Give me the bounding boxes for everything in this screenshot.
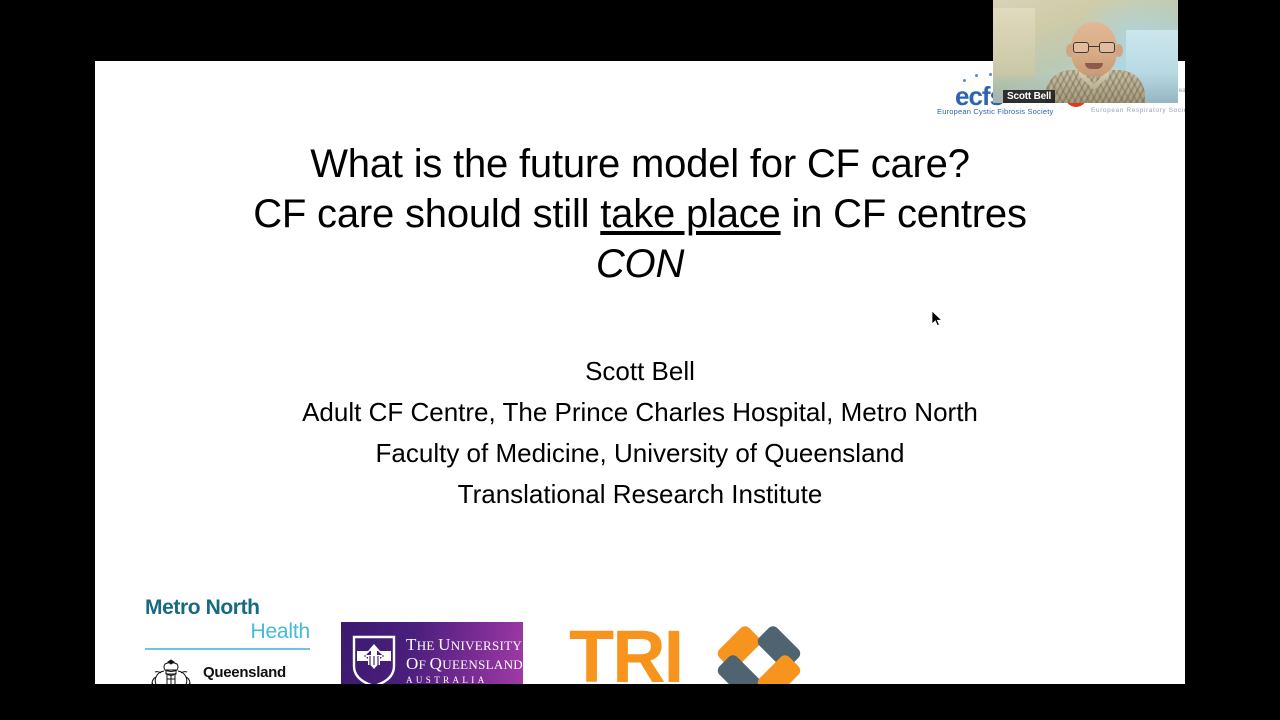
queensland-line-1: Queensland [203, 664, 288, 681]
participant-name-label: Scott Bell [1003, 90, 1055, 103]
title-line-2-underlined: take place [600, 192, 780, 236]
uq-shield-icon [351, 634, 397, 684]
uq-line-1-he: HE [417, 638, 438, 653]
uq-line-2-f: F [419, 657, 430, 672]
queensland-coat-of-arms-icon [145, 657, 197, 684]
title-line-1: What is the future model for CF care? [95, 139, 1185, 189]
ers-subtitle: European Respiratory Society [1091, 107, 1185, 114]
metro-north-line-1: Metro North [145, 596, 310, 620]
metro-north-health-logo: Metro North Health [145, 596, 310, 684]
title-line-2-pre: CF care should still [253, 192, 600, 236]
metro-north-line-2: Health [145, 620, 310, 644]
author-affiliation-3: Translational Research Institute [95, 474, 1185, 515]
metro-north-divider [145, 648, 310, 650]
tri-logo: TRI [569, 613, 809, 684]
slide-author-block: Scott Bell Adult CF Centre, The Prince C… [95, 351, 1185, 515]
slide-footer-logos: Metro North Health [95, 527, 1185, 667]
author-affiliation-2: Faculty of Medicine, University of Queen… [95, 433, 1185, 474]
presentation-slide: ecfs European Cystic Fibrosis Society ER… [95, 61, 1185, 684]
title-line-2-post: in CF centres [781, 192, 1027, 236]
uq-wordmark: THE UNIVERSITY OF QUEENSLAND AUSTRALIA [406, 636, 523, 684]
uq-line-1-niversity: NIVERSITY [451, 638, 522, 653]
author-affiliation-1: Adult CF Centre, The Prince Charles Hosp… [95, 392, 1185, 433]
title-line-2: CF care should still take place in CF ce… [95, 189, 1185, 239]
slide-title: What is the future model for CF care? CF… [95, 139, 1185, 289]
queensland-government-logo: Queensland Government [145, 657, 310, 684]
tri-wordmark: TRI [569, 617, 682, 684]
uq-line-2-q: Q [430, 654, 443, 673]
tri-diamond-icon [717, 619, 803, 684]
uq-line-1: THE UNIVERSITY [406, 636, 523, 654]
mouse-cursor [931, 310, 943, 328]
uq-line-1-u: U [438, 635, 451, 654]
uq-line-2-o: O [406, 654, 419, 673]
uq-line-2-ueensland: UEENSLAND [442, 657, 523, 672]
uq-line-2: OF QUEENSLAND [406, 655, 523, 673]
webcam-vignette [993, 0, 1178, 103]
uq-line-3: AUSTRALIA [406, 676, 523, 684]
title-line-3: CON [95, 239, 1185, 289]
screen-root: ecfs European Cystic Fibrosis Society ER… [0, 0, 1280, 720]
author-name: Scott Bell [95, 351, 1185, 392]
uq-line-1-t: T [406, 635, 417, 654]
queensland-government-text: Queensland Government [203, 664, 288, 684]
university-of-queensland-logo: THE UNIVERSITY OF QUEENSLAND AUSTRALIA [341, 622, 523, 684]
ecfs-subtitle: European Cystic Fibrosis Society [937, 107, 1053, 116]
webcam-video-tile[interactable] [993, 0, 1178, 103]
queensland-line-2: Government [203, 681, 288, 684]
